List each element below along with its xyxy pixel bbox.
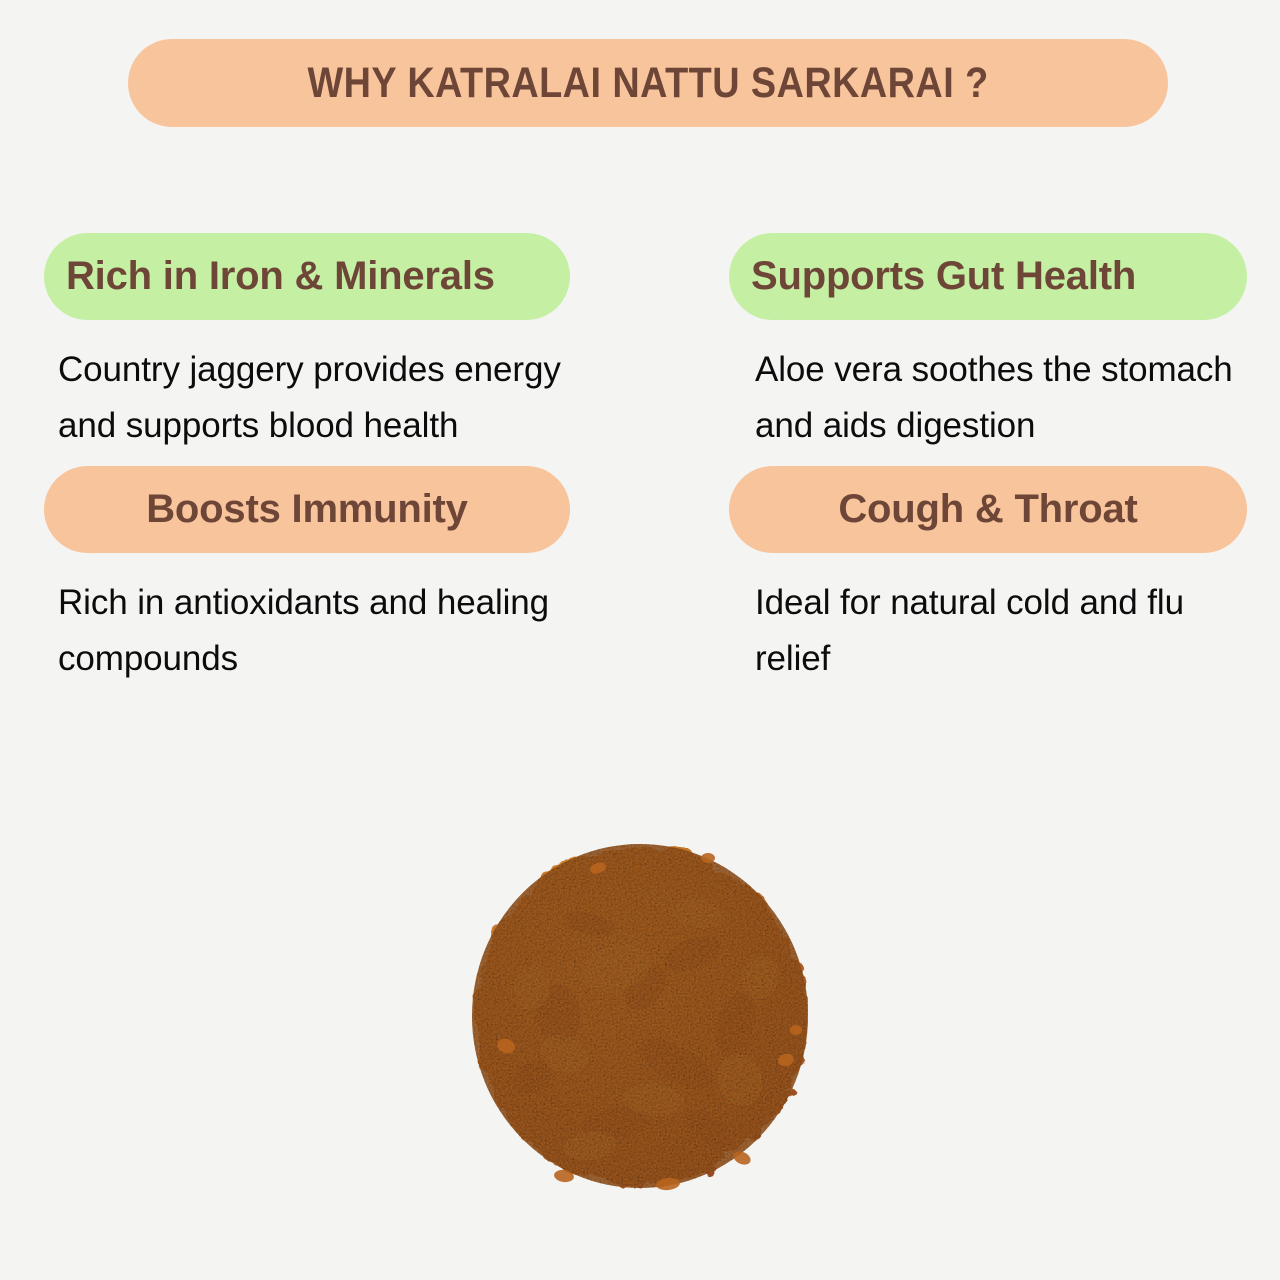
benefit-description: Ideal for natural cold and flu relief [729,575,1247,687]
benefit-pill-gut-health: Supports Gut Health [729,233,1247,320]
benefit-description: Country jaggery provides energy and supp… [44,342,570,454]
benefit-card-gut-health: Supports Gut Health Aloe vera soothes th… [640,233,1280,454]
benefit-card-iron-minerals: Rich in Iron & Minerals Country jaggery … [0,233,640,454]
benefit-label: Rich in Iron & Minerals [66,254,495,299]
benefit-card-boosts-immunity: Boosts Immunity Rich in antioxidants and… [0,466,640,687]
benefit-description: Aloe vera soothes the stomach and aids d… [729,342,1247,454]
benefit-label: Cough & Throat [838,487,1137,532]
benefit-pill-cough-throat: Cough & Throat [729,466,1247,553]
benefits-row: Boosts Immunity Rich in antioxidants and… [0,466,1280,687]
benefits-row: Rich in Iron & Minerals Country jaggery … [0,233,1280,454]
benefit-label: Boosts Immunity [146,487,467,532]
jaggery-powder-image [440,828,840,1208]
benefit-label: Supports Gut Health [751,254,1136,299]
benefit-pill-iron-minerals: Rich in Iron & Minerals [44,233,570,320]
benefit-card-cough-throat: Cough & Throat Ideal for natural cold an… [640,466,1280,687]
benefit-pill-boosts-immunity: Boosts Immunity [44,466,570,553]
benefits-grid: Rich in Iron & Minerals Country jaggery … [0,233,1280,687]
benefit-description: Rich in antioxidants and healing compoun… [44,575,570,687]
page-title: WHY KATRALAI NATTU SARKARAI ? [307,59,988,108]
jaggery-powder-illustration [440,828,840,1208]
page-title-banner: WHY KATRALAI NATTU SARKARAI ? [128,39,1168,127]
